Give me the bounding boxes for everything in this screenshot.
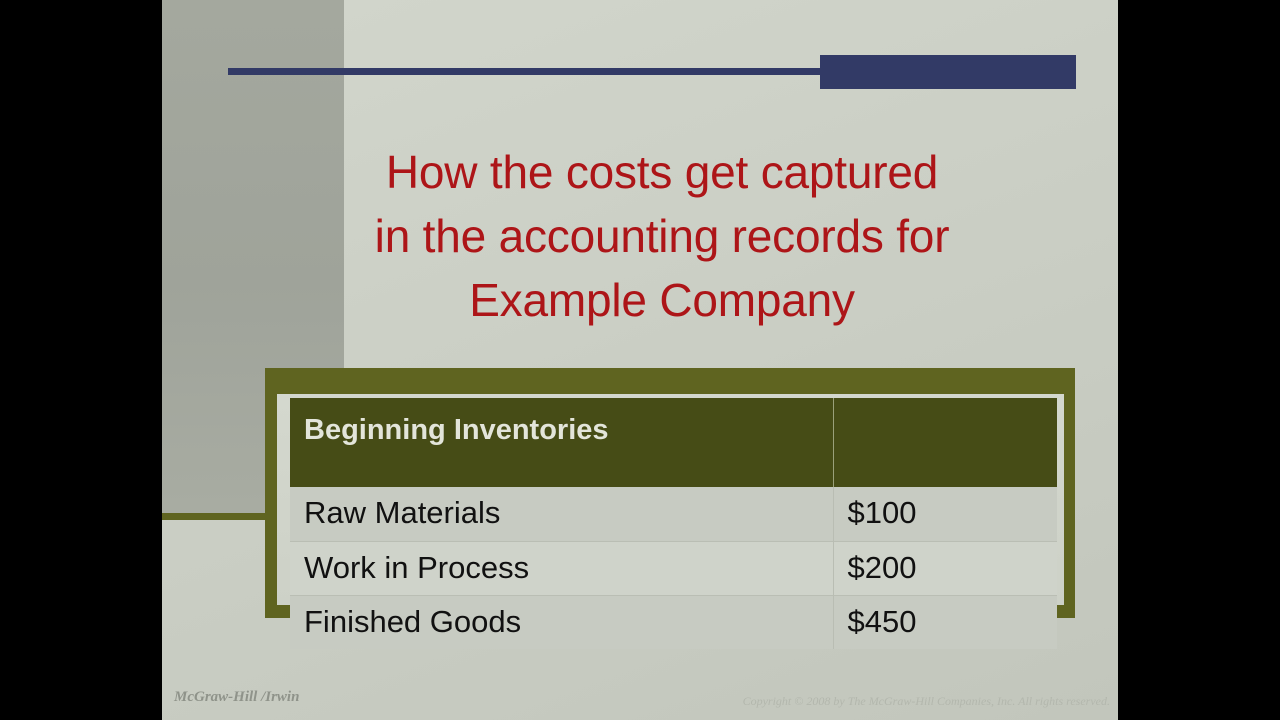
header-accent-block xyxy=(820,55,1076,89)
table-header-label: Beginning Inventories xyxy=(290,398,833,487)
beginning-inventories-table: Beginning Inventories Raw Materials $100… xyxy=(290,398,1057,649)
row-label-raw-materials: Raw Materials xyxy=(290,487,833,541)
table-header-row: Beginning Inventories xyxy=(290,398,1057,487)
footer-brand: McGraw-Hill /Irwin xyxy=(174,689,299,706)
table-body: Raw Materials $100 Work in Process $200 … xyxy=(290,487,1057,649)
table-header-value xyxy=(833,398,1057,487)
table-header: Beginning Inventories xyxy=(290,398,1057,487)
screenshot-stage: How the costs get captured in the accoun… xyxy=(0,0,1280,720)
table-row: Raw Materials $100 xyxy=(290,487,1057,541)
row-value-raw-materials: $100 xyxy=(833,487,1057,541)
table-row: Finished Goods $450 xyxy=(290,595,1057,649)
row-label-work-in-process: Work in Process xyxy=(290,541,833,595)
presentation-slide: How the costs get captured in the accoun… xyxy=(162,0,1118,720)
row-label-finished-goods: Finished Goods xyxy=(290,595,833,649)
slide-title: How the costs get captured in the accoun… xyxy=(222,140,1102,332)
footer-copyright: Copyright © 2008 by The McGraw-Hill Comp… xyxy=(743,694,1110,709)
row-value-work-in-process: $200 xyxy=(833,541,1057,595)
table-row: Work in Process $200 xyxy=(290,541,1057,595)
row-value-finished-goods: $450 xyxy=(833,595,1057,649)
